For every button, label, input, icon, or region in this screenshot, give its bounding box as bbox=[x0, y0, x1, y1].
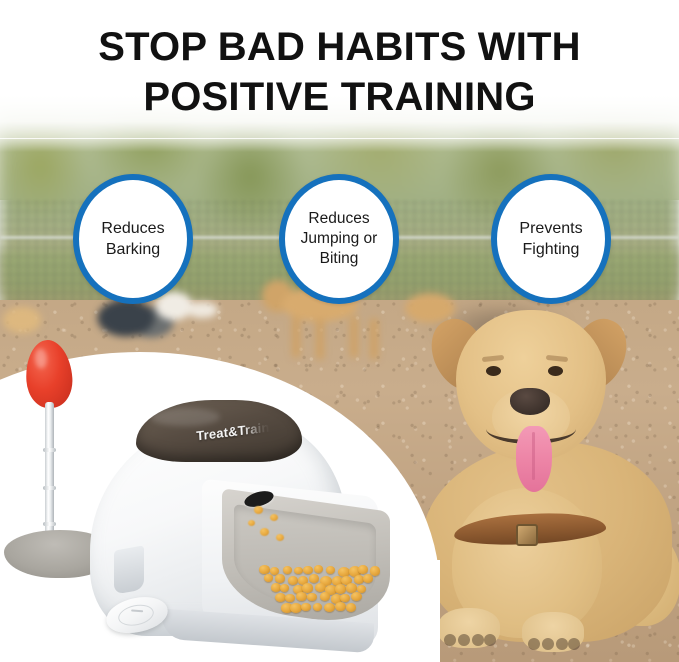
dispenser-side-vent bbox=[114, 545, 144, 594]
falling-treat bbox=[260, 528, 269, 536]
falling-treat bbox=[276, 534, 284, 541]
dog-paw-right bbox=[522, 612, 584, 652]
benefit-badge-label: Reduces Jumping or Biting bbox=[295, 209, 384, 269]
treat-kibble bbox=[280, 584, 289, 592]
treat-kibble bbox=[307, 593, 317, 601]
treat-kibble bbox=[285, 594, 295, 602]
dog-eye-left bbox=[486, 366, 501, 376]
treat-kibble bbox=[324, 603, 335, 612]
target-stick-joint bbox=[43, 522, 56, 526]
treat-kibble bbox=[351, 592, 362, 601]
falling-treat bbox=[254, 506, 263, 514]
benefit-badge-label: Reduces Barking bbox=[95, 218, 170, 260]
target-stick-tip bbox=[24, 338, 75, 409]
treat-kibble bbox=[313, 603, 323, 611]
headline-line-2: POSITIVE TRAINING bbox=[0, 72, 679, 122]
collar-buckle bbox=[516, 524, 538, 546]
overlay-hairline bbox=[0, 138, 679, 139]
dog-eye-right bbox=[548, 366, 563, 376]
dog-paw-left bbox=[438, 608, 500, 648]
dog-nose bbox=[510, 388, 550, 415]
target-stick-rod bbox=[45, 402, 54, 542]
treat-kibble bbox=[358, 565, 368, 573]
treat-kibble bbox=[290, 603, 302, 613]
headline-line-1: STOP BAD HABITS WITH bbox=[0, 22, 679, 72]
benefit-badge-reduces-barking: Reduces Barking bbox=[73, 174, 193, 304]
treat-kibble bbox=[288, 576, 298, 585]
treat-kibble bbox=[335, 584, 346, 593]
falling-treat bbox=[270, 514, 278, 521]
marketing-image: STOP BAD HABITS WITH POSITIVE TRAINING R… bbox=[0, 0, 679, 662]
target-stick-joint bbox=[43, 486, 56, 490]
treat-kibble bbox=[314, 565, 324, 573]
treat-kibble bbox=[275, 574, 285, 582]
treat-kibble bbox=[326, 566, 335, 574]
treat-kibble bbox=[320, 592, 330, 601]
page-title: STOP BAD HABITS WITH POSITIVE TRAINING bbox=[0, 22, 679, 122]
benefit-badge-reduces-jumping-or-biting: Reduces Jumping or Biting bbox=[279, 174, 399, 304]
falling-treat bbox=[248, 520, 255, 526]
foreground-dog bbox=[404, 292, 679, 662]
dog-tongue bbox=[516, 426, 552, 492]
target-stick-joint bbox=[43, 448, 56, 452]
treat-kibble bbox=[259, 565, 269, 574]
treat-kibble bbox=[346, 603, 356, 612]
benefit-badge-label: Prevents Fighting bbox=[513, 218, 588, 260]
benefit-badge-prevents-fighting: Prevents Fighting bbox=[491, 174, 611, 304]
treat-kibble bbox=[296, 592, 306, 601]
treat-kibble bbox=[335, 602, 346, 611]
